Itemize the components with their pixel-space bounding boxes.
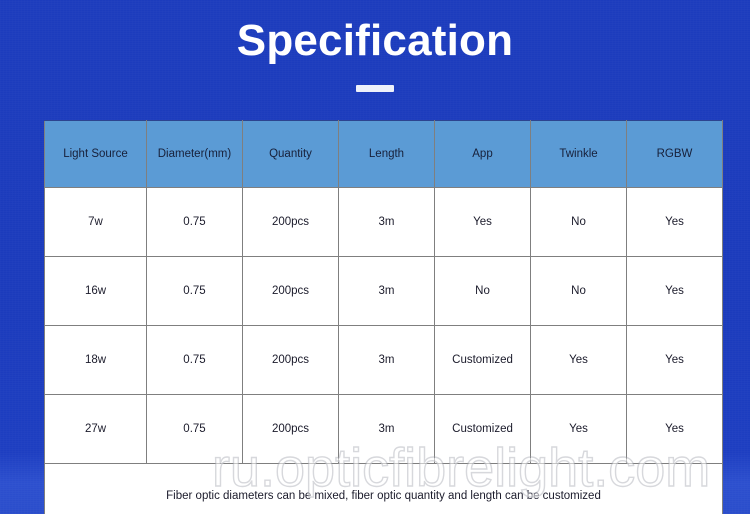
cell-quantity: 200pcs [243,188,339,257]
column-header-rgbw: RGBW [627,121,723,188]
column-header-diameter: Diameter(mm) [147,121,243,188]
cell-light-source: 16w [45,257,147,326]
table-body: 7w 0.75 200pcs 3m Yes No Yes 16w 0.75 20… [45,188,723,514]
cell-diameter: 0.75 [147,326,243,395]
column-header-length: Length [339,121,435,188]
table-row: 18w 0.75 200pcs 3m Customized Yes Yes [45,326,723,395]
table-row: 27w 0.75 200pcs 3m Customized Yes Yes [45,395,723,464]
cell-rgbw: Yes [627,257,723,326]
column-header-light-source: Light Source [45,121,147,188]
cell-light-source: 27w [45,395,147,464]
specification-table: Light Source Diameter(mm) Quantity Lengt… [44,120,723,514]
cell-rgbw: Yes [627,188,723,257]
cell-app: Customized [435,326,531,395]
column-header-quantity: Quantity [243,121,339,188]
cell-quantity: 200pcs [243,395,339,464]
cell-light-source: 7w [45,188,147,257]
cell-length: 3m [339,395,435,464]
cell-diameter: 0.75 [147,395,243,464]
specification-page: Specification Light Source Diameter(mm) … [0,0,750,514]
cell-twinkle: Yes [531,326,627,395]
table-header-row: Light Source Diameter(mm) Quantity Lengt… [45,121,723,188]
cell-rgbw: Yes [627,395,723,464]
cell-diameter: 0.75 [147,257,243,326]
specification-table-container: Light Source Diameter(mm) Quantity Lengt… [44,120,722,514]
page-title: Specification [0,14,750,68]
table-row: 16w 0.75 200pcs 3m No No Yes [45,257,723,326]
title-underline-rule [356,85,394,92]
cell-length: 3m [339,326,435,395]
table-note: Fiber optic diameters can be mixed, fibe… [45,464,723,514]
cell-diameter: 0.75 [147,188,243,257]
cell-twinkle: Yes [531,395,627,464]
cell-app: Yes [435,188,531,257]
cell-light-source: 18w [45,326,147,395]
cell-quantity: 200pcs [243,257,339,326]
table-header: Light Source Diameter(mm) Quantity Lengt… [45,121,723,188]
cell-twinkle: No [531,188,627,257]
column-header-app: App [435,121,531,188]
cell-app: Customized [435,395,531,464]
cell-twinkle: No [531,257,627,326]
heading-block: Specification [0,14,750,92]
column-header-twinkle: Twinkle [531,121,627,188]
cell-length: 3m [339,257,435,326]
cell-app: No [435,257,531,326]
cell-rgbw: Yes [627,326,723,395]
table-note-row: Fiber optic diameters can be mixed, fibe… [45,464,723,514]
cell-length: 3m [339,188,435,257]
table-row: 7w 0.75 200pcs 3m Yes No Yes [45,188,723,257]
cell-quantity: 200pcs [243,326,339,395]
